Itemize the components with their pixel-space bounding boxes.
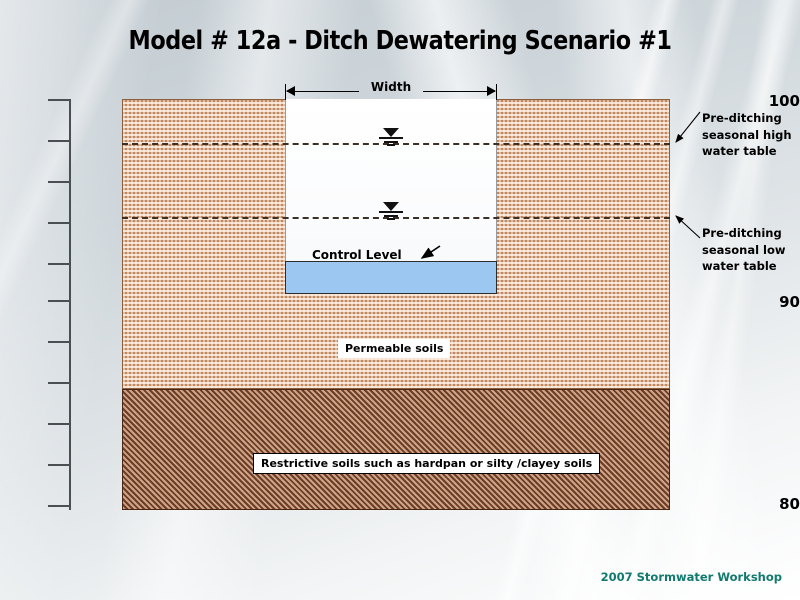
width-dimension-label: Width — [285, 80, 497, 94]
page-title: Model # 12a - Ditch Dewatering Scenario … — [56, 26, 744, 56]
axis-label-100: 100 — [756, 92, 800, 110]
axis-tick — [48, 99, 69, 101]
axis-tick — [48, 464, 69, 466]
low-water-table-callout: Pre-ditching seasonal low water table — [702, 225, 798, 275]
water-table-symbol-high — [378, 128, 404, 146]
axis-tick — [48, 382, 69, 384]
axis-tick — [48, 181, 69, 183]
axis-tick — [48, 341, 69, 343]
width-dimension: Width — [285, 86, 497, 108]
axis-label-80: 80 — [756, 495, 800, 513]
water-table-symbol-low — [378, 202, 404, 220]
axis-tick — [48, 222, 69, 224]
permeable-soils-label: Permeable soils — [338, 339, 450, 358]
restrictive-soils-label: Restrictive soils such as hardpan or sil… — [253, 453, 600, 474]
ditch-water-body — [285, 261, 497, 294]
axis-tick — [48, 263, 69, 265]
axis-tick — [48, 423, 69, 425]
axis-tick — [48, 505, 69, 507]
axis-label-90: 90 — [756, 293, 800, 311]
axis-tick — [48, 300, 69, 302]
axis-tick — [48, 140, 69, 142]
high-water-table-callout: Pre-ditching seasonal high water table — [702, 110, 798, 160]
footer-text: 2007 Stormwater Workshop — [601, 570, 782, 584]
control-level-label: Control Level — [312, 248, 402, 262]
elevation-axis-line — [69, 99, 71, 510]
restrictive-soil-layer — [122, 389, 670, 510]
